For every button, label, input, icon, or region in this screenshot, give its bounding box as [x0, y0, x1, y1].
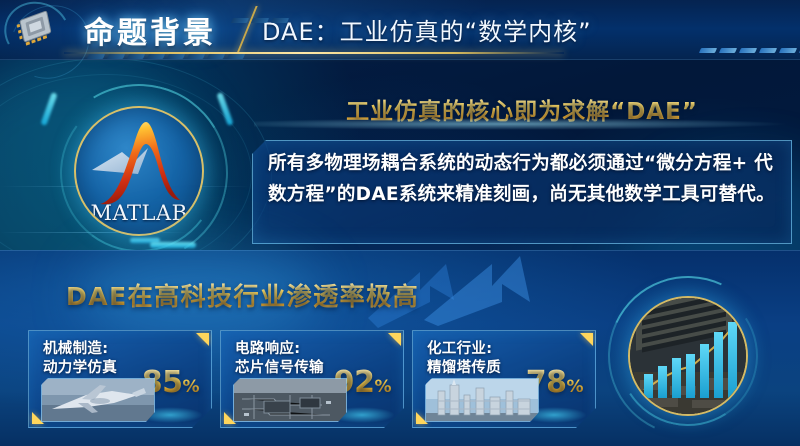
stat-card-label: 化工行业: 精馏塔传质 [427, 340, 501, 378]
stat-card-label: 机械制造: 动力学仿真 [43, 340, 117, 378]
percent-unit: % [566, 377, 583, 397]
corner-accent-icon [580, 333, 593, 346]
corner-accent-icon [196, 333, 209, 346]
stat-card-thumbnail [233, 378, 347, 422]
header-dashes-right [700, 48, 800, 53]
percent-unit: % [182, 377, 199, 397]
header-dashes-bottom [88, 54, 244, 59]
decor-glow-bar-2 [216, 92, 233, 126]
headline-glow [254, 118, 790, 130]
page-subtitle: DAE：工业仿真的“数学内核” [262, 12, 592, 47]
corner-accent-icon [388, 333, 401, 346]
stat-card-label: 电路响应: 芯片信号传输 [235, 340, 324, 378]
matlab-wordmark: MATLAB [76, 201, 202, 225]
decor-glow-bar-1 [40, 92, 57, 126]
stat-card-thumbnail [41, 378, 155, 422]
stat-card-list: 机械制造: 动力学仿真 85% [28, 330, 596, 428]
aircraft-photo-icon [42, 379, 154, 421]
bottom-glow-bar [150, 242, 196, 248]
header-dashes-left [232, 18, 288, 23]
bottom-section-title: DAE在高科技行业渗透率极高 [66, 277, 419, 313]
page-title: 命题背景 [84, 8, 216, 52]
growth-arrow-large-icon [424, 250, 554, 326]
chart-disc [628, 296, 748, 416]
growth-chart-image [622, 290, 750, 418]
stat-card-chemical[interactable]: 化工行业: 精馏塔传质 78% [412, 330, 596, 428]
slide-root: 命题背景 DAE：工业仿真的“数学内核” [0, 0, 800, 446]
header-bar: 命题背景 DAE：工业仿真的“数学内核” [0, 0, 800, 60]
matlab-logo: MATLAB [62, 96, 212, 246]
stat-card-mechanical[interactable]: 机械制造: 动力学仿真 85% [28, 330, 212, 428]
bar-chart-icon [630, 298, 746, 414]
chip-circuit-photo-icon [234, 379, 346, 421]
stat-card-thumbnail [425, 378, 539, 422]
chemical-plant-photo-icon [426, 379, 538, 421]
percent-unit: % [374, 377, 391, 397]
logo-disc: MATLAB [74, 106, 204, 236]
statement-body: 所有多物理场耦合系统的动态行为都必须通过“微分方程+ 代数方程”的DAE系统来精… [268, 148, 776, 210]
stat-card-circuit[interactable]: 电路响应: 芯片信号传输 92% [220, 330, 404, 428]
